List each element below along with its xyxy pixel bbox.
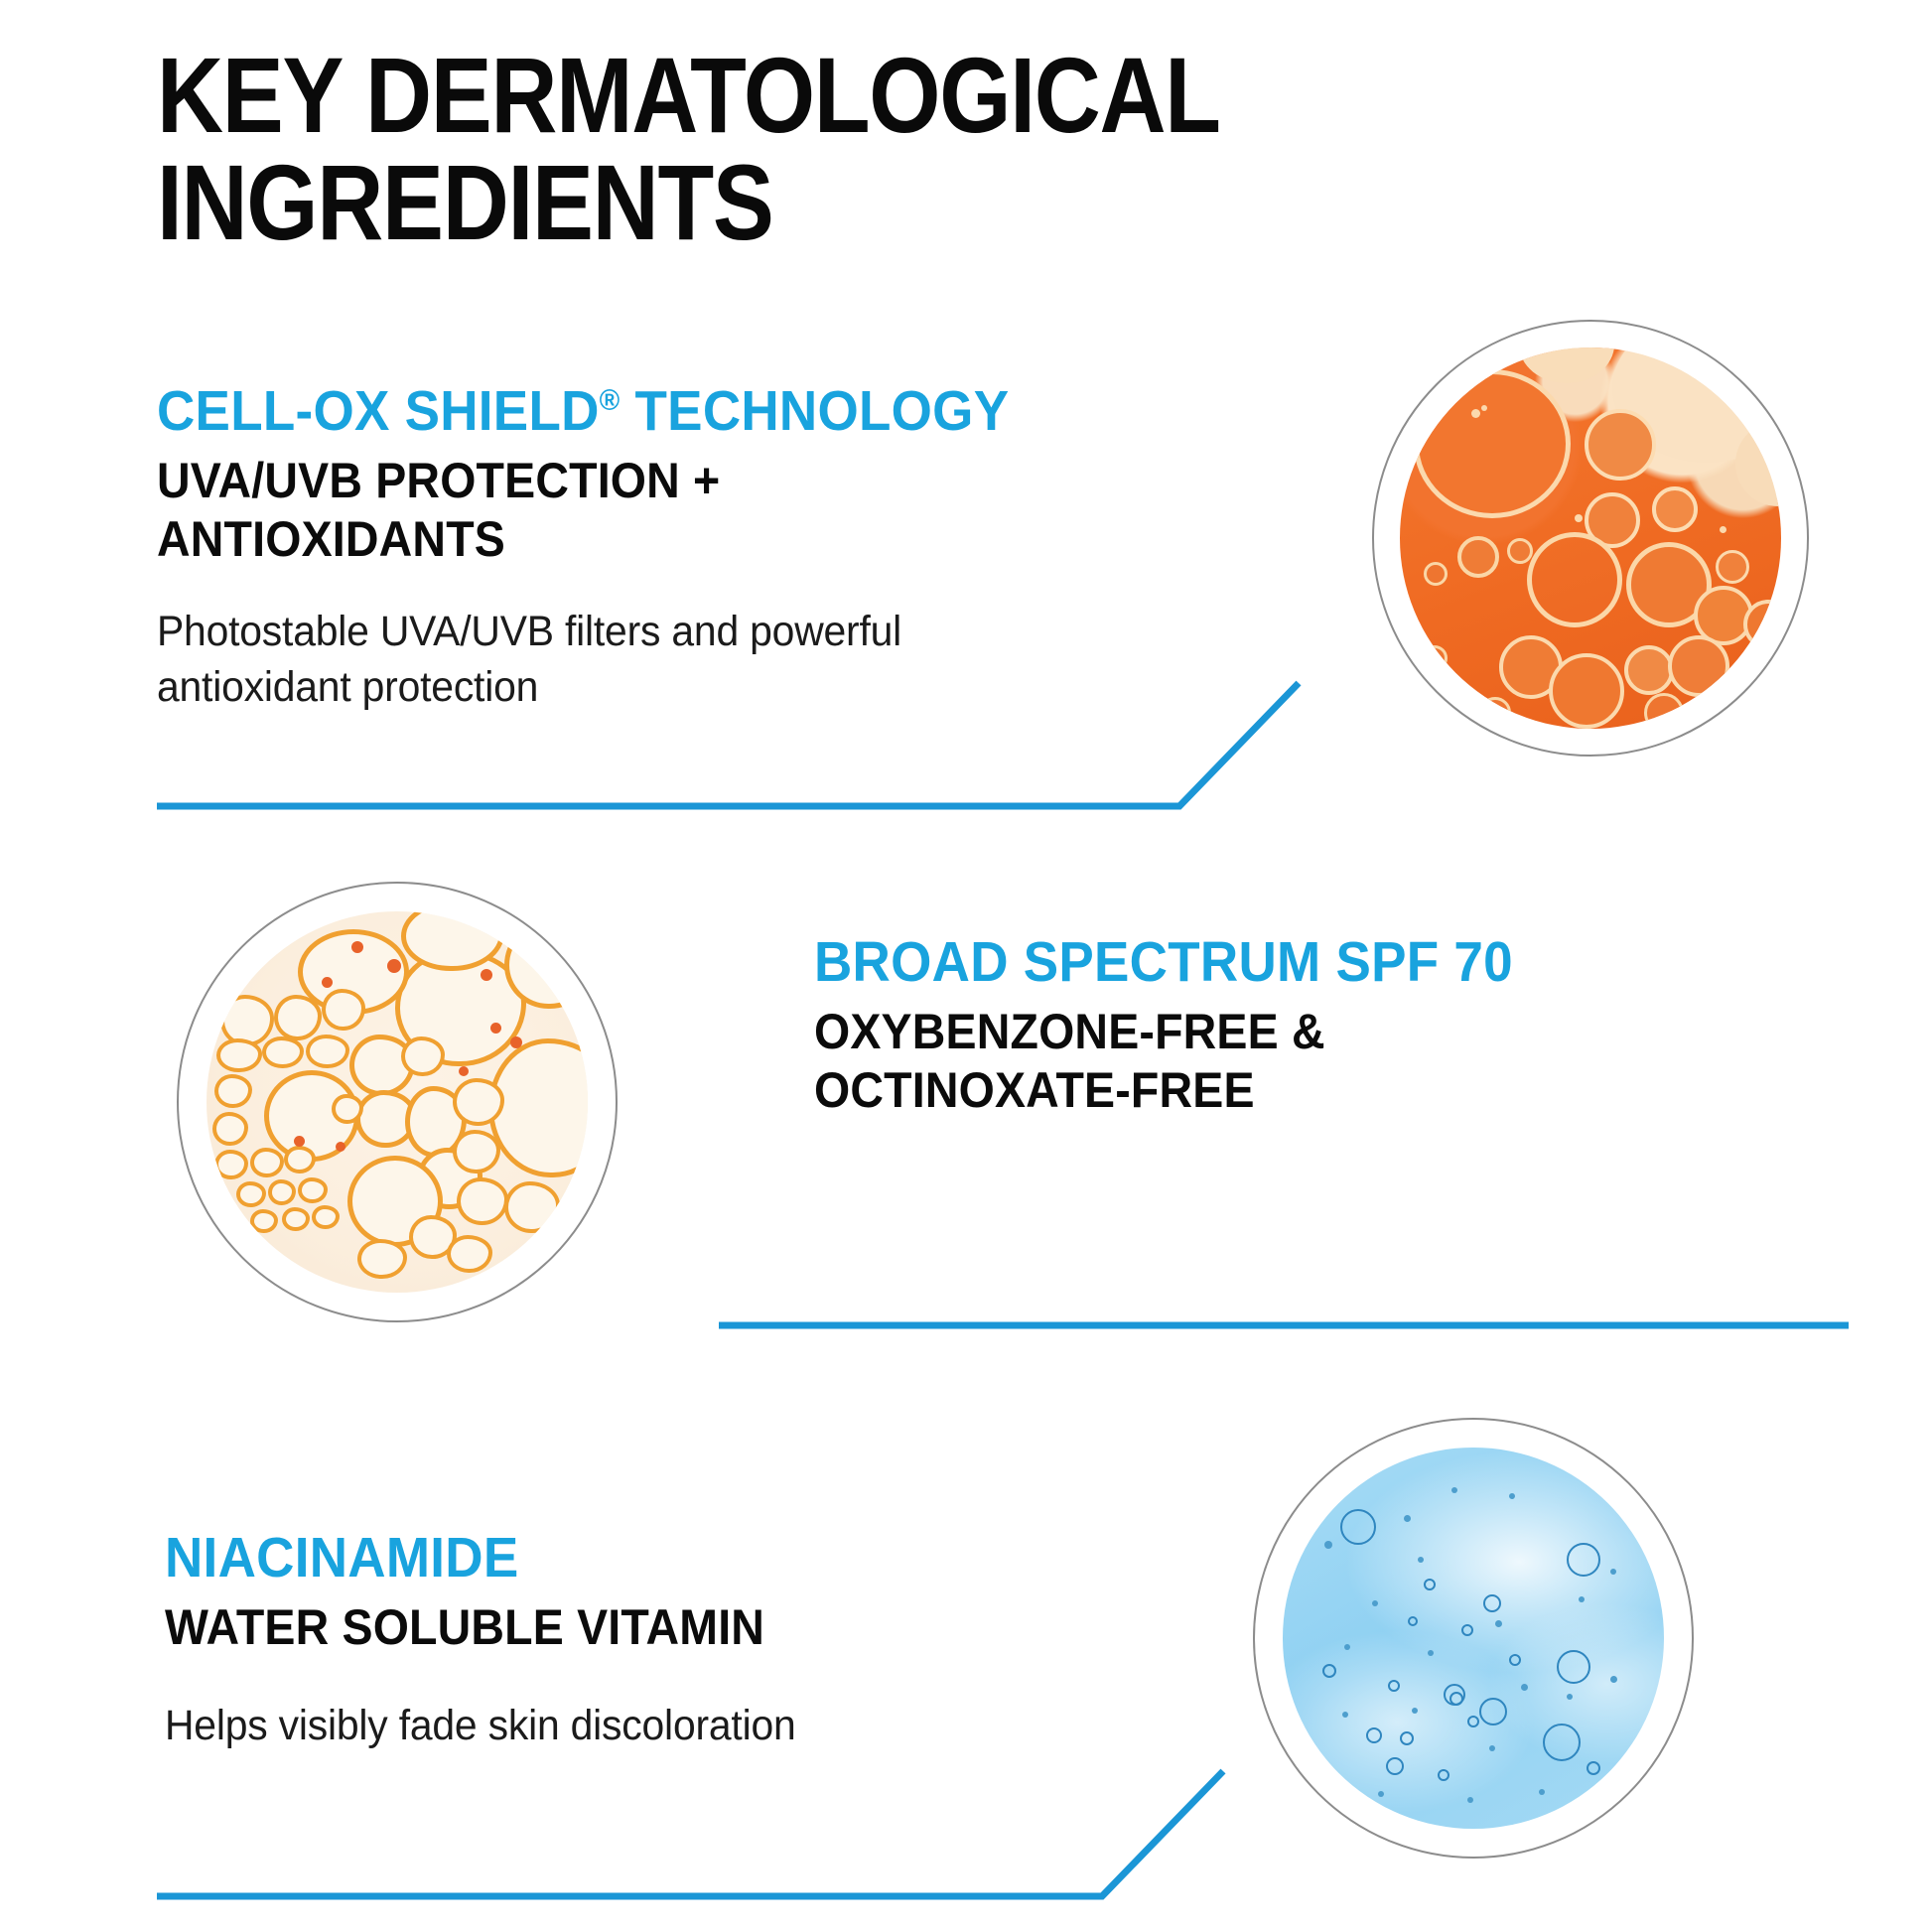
page-title-line-1: KEY DERMATOLOGICAL (157, 35, 1220, 155)
swatch-image-blue-gel (1283, 1448, 1664, 1829)
heading-text: NIACINAMIDE (165, 1526, 518, 1589)
subheading-line-2: OCTINOXATE-FREE (814, 1061, 1793, 1120)
section-broad-spectrum-spf-70: BROAD SPECTRUM SPF 70 OXYBENZONE-FREE & … (814, 933, 1866, 1120)
swatch-plant-cell-tissue (177, 882, 618, 1322)
subheading-line-2: ANTIOXIDANTS (157, 510, 1191, 569)
heading-text: CELL-OX SHIELD (157, 379, 600, 443)
body-line-1: Photostable UVA/UVB filters and powerful (157, 605, 1213, 660)
page-title: KEY DERMATOLOGICAL INGREDIENTS (157, 42, 1438, 256)
page-title-line-2: INGREDIENTS (157, 149, 1438, 256)
heading-suffix: TECHNOLOGY (621, 379, 1010, 443)
section-heading-broad-spectrum: BROAD SPECTRUM SPF 70 (814, 933, 1793, 993)
section-niacinamide: NIACINAMIDE WATER SOLUBLE VITAMIN Helps … (165, 1529, 1207, 1754)
connector-line-broad-spectrum (713, 1309, 1855, 1342)
section-subheading-niacinamide: WATER SOLUBLE VITAMIN (165, 1598, 1135, 1657)
swatch-blue-gel (1253, 1418, 1694, 1859)
body-line-1: Helps visibly fade skin discoloration (165, 1699, 1156, 1754)
swatch-image-cell-tissue (207, 911, 588, 1293)
section-subheading-broad-spectrum: OXYBENZONE-FREE & OCTINOXATE-FREE (814, 1003, 1793, 1120)
subheading-line-1: OXYBENZONE-FREE & (814, 1003, 1793, 1061)
connector-line-niacinamide (149, 1745, 1251, 1914)
infographic-canvas: KEY DERMATOLOGICAL INGREDIENTS CELL-OX S… (0, 0, 1932, 1932)
subheading-line-1: UVA/UVB PROTECTION + (157, 452, 1191, 510)
heading-text: BROAD SPECTRUM SPF 70 (814, 930, 1513, 994)
section-body-niacinamide: Helps visibly fade skin discoloration (165, 1699, 1156, 1754)
registered-trademark-icon: ® (600, 384, 621, 417)
section-body-cell-ox-shield: Photostable UVA/UVB filters and powerful… (157, 605, 1213, 716)
swatch-orange-oil-droplets (1372, 320, 1809, 757)
subheading-line-1: WATER SOLUBLE VITAMIN (165, 1598, 1135, 1657)
section-heading-niacinamide: NIACINAMIDE (165, 1529, 1135, 1588)
swatch-image-orange-oil (1400, 347, 1781, 729)
section-subheading-cell-ox-shield: UVA/UVB PROTECTION + ANTIOXIDANTS (157, 452, 1191, 569)
body-line-2: antioxidant protection (157, 660, 1213, 716)
section-heading-cell-ox-shield: CELL-OX SHIELD® TECHNOLOGY (157, 382, 1191, 442)
section-cell-ox-shield: CELL-OX SHIELD® TECHNOLOGY UVA/UVB PROTE… (157, 382, 1269, 716)
